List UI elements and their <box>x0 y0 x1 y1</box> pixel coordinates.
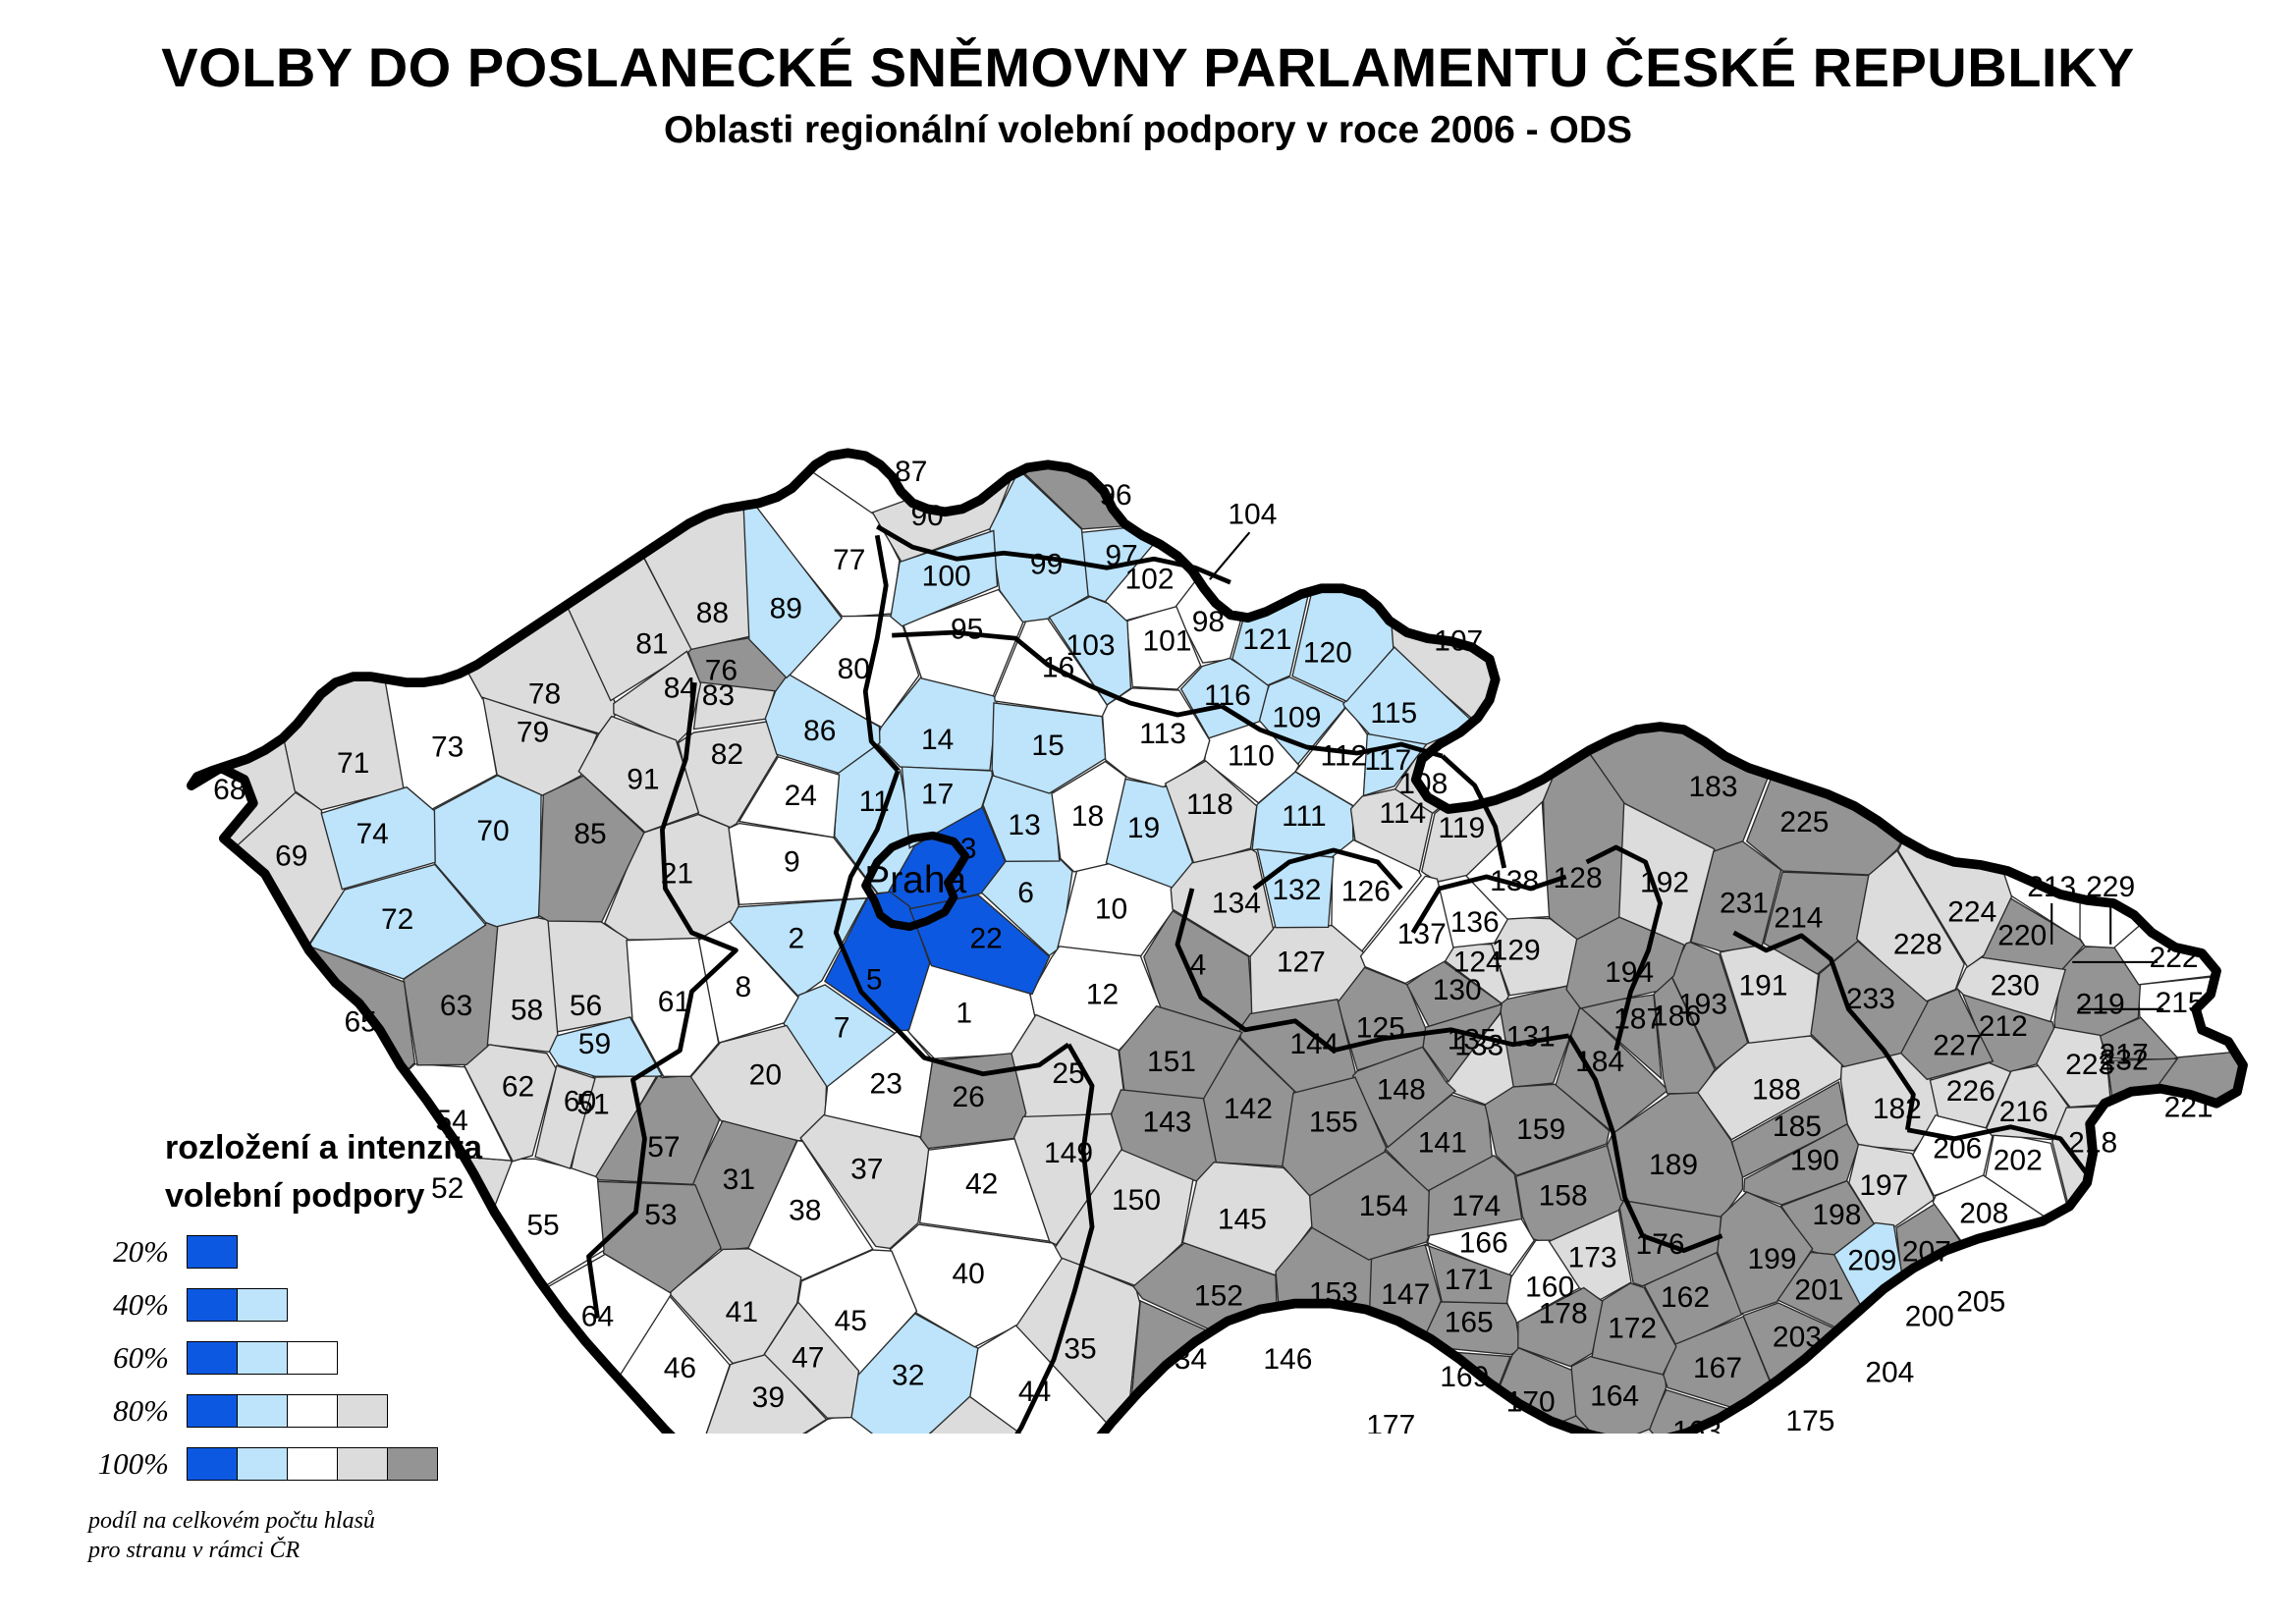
region-label: 144 <box>1289 1028 1339 1060</box>
region-label: 171 <box>1445 1264 1494 1296</box>
region-label: 21 <box>661 857 693 890</box>
region-label: 102 <box>1124 564 1174 596</box>
region-label: 100 <box>922 561 971 593</box>
legend-swatch <box>187 1235 238 1269</box>
region-label: 169 <box>1440 1361 1489 1393</box>
region-label: 15 <box>1031 730 1064 762</box>
region-label: 20 <box>749 1059 782 1092</box>
region-label: 110 <box>1228 739 1275 772</box>
region-label: 173 <box>1568 1242 1617 1274</box>
region-label: 59 <box>578 1028 611 1060</box>
region-label: 88 <box>696 597 729 629</box>
region-label: 136 <box>1450 906 1500 939</box>
region-label: 2 <box>788 922 804 954</box>
region-label: 197 <box>1859 1169 1908 1202</box>
region-label: 230 <box>1991 969 2040 1001</box>
region-label: 218 <box>2068 1127 2117 1160</box>
region-label: 1 <box>956 998 972 1030</box>
region-label: 202 <box>1994 1145 2043 1177</box>
legend-swatch <box>237 1288 288 1322</box>
region-label: 189 <box>1649 1149 1698 1181</box>
legend-heading-line1: rozložení a intenzita <box>165 1124 627 1172</box>
region-label: 205 <box>1956 1285 2005 1318</box>
region-label: 83 <box>702 679 735 712</box>
region-label: 185 <box>1773 1110 1822 1143</box>
region-label: 111 <box>1282 800 1327 833</box>
region-label: 99 <box>1030 549 1063 581</box>
legend-swatch <box>287 1341 338 1375</box>
region-label: 87 <box>895 456 927 488</box>
region-label: 149 <box>1044 1137 1093 1169</box>
region-label: 132 <box>1272 874 1321 906</box>
legend-row: 80% <box>77 1388 627 1434</box>
region-label: 91 <box>627 763 659 795</box>
map-region[interactable] <box>1576 372 1927 851</box>
region-label: 112 <box>1320 739 1367 772</box>
legend-row: 20% <box>77 1229 627 1274</box>
region-label: 77 <box>833 544 865 576</box>
region-label: 170 <box>1506 1385 1556 1418</box>
region-label: 117 <box>1364 744 1411 777</box>
region-label: 128 <box>1554 862 1603 894</box>
region-label: 23 <box>870 1068 902 1101</box>
legend-row: 100% <box>77 1441 627 1487</box>
region-label: 208 <box>1959 1198 2008 1230</box>
region-label: 10 <box>1095 893 1127 925</box>
region-label: 101 <box>1142 625 1191 658</box>
map-region[interactable] <box>1383 374 1782 734</box>
legend-swatch <box>337 1394 388 1428</box>
region-label: 24 <box>785 780 817 812</box>
region-label: 163 <box>1672 1415 1722 1434</box>
region-label: 41 <box>726 1296 758 1328</box>
region-label: 103 <box>1066 629 1116 662</box>
map-region[interactable] <box>692 372 1027 514</box>
region-label: 69 <box>275 839 307 872</box>
region-label: 204 <box>1865 1356 1914 1388</box>
legend-bar <box>187 1341 338 1375</box>
region-label: 19 <box>1127 812 1160 844</box>
region-label: 172 <box>1608 1312 1657 1344</box>
map-region[interactable] <box>2080 373 2296 947</box>
map-region[interactable] <box>86 792 345 1039</box>
capital-label: Praha <box>864 859 966 901</box>
region-label: 153 <box>1309 1277 1358 1310</box>
region-label: 192 <box>1640 866 1689 898</box>
region-label: 227 <box>1933 1030 1982 1062</box>
region-label: 166 <box>1459 1227 1508 1260</box>
region-label: 188 <box>1752 1074 1801 1107</box>
region-label: 183 <box>1689 771 1738 803</box>
region-label: 219 <box>2076 989 2125 1021</box>
region-label: 145 <box>1218 1204 1267 1236</box>
region-label: 72 <box>381 903 413 936</box>
region-label: 68 <box>213 774 246 806</box>
legend-swatch <box>187 1288 238 1322</box>
region-label: 126 <box>1341 875 1391 907</box>
region-label: 25 <box>1052 1057 1084 1090</box>
map-region[interactable] <box>487 918 558 1053</box>
region-label: 115 <box>1370 697 1417 730</box>
region-label: 85 <box>574 818 606 850</box>
region-label: 174 <box>1451 1190 1501 1222</box>
region-label: 229 <box>2086 871 2135 903</box>
region-label: 151 <box>1147 1046 1196 1078</box>
region-label: 34 <box>1175 1343 1207 1376</box>
region-label: 177 <box>1366 1409 1415 1434</box>
region-label: 138 <box>1490 865 1539 897</box>
legend-bar <box>187 1288 288 1322</box>
region-label: 164 <box>1590 1380 1639 1412</box>
map-region[interactable] <box>1747 374 2056 875</box>
map-region[interactable] <box>1948 1258 2295 1434</box>
region-label: 193 <box>1678 989 1727 1021</box>
region-label: 135 <box>1448 1024 1497 1056</box>
region-label: 143 <box>1142 1107 1191 1139</box>
region-label: 71 <box>337 747 369 780</box>
region-label: 147 <box>1381 1278 1430 1311</box>
legend-bar <box>187 1394 388 1428</box>
legend-swatch <box>187 1394 238 1428</box>
region-label: 46 <box>664 1352 696 1384</box>
region-label: 89 <box>770 593 802 625</box>
region-label: 159 <box>1516 1113 1565 1146</box>
region-label: 14 <box>921 724 954 756</box>
region-label: 207 <box>1902 1236 1951 1269</box>
region-label: 146 <box>1263 1343 1312 1376</box>
region-label: 125 <box>1356 1012 1405 1045</box>
region-label: 228 <box>1893 928 1942 960</box>
region-label: 162 <box>1661 1281 1710 1314</box>
region-label: 37 <box>850 1154 883 1186</box>
region-label: 109 <box>1272 702 1321 734</box>
region-label: 47 <box>792 1341 824 1374</box>
region-label: 206 <box>1933 1133 1982 1165</box>
region-label: 129 <box>1492 934 1541 966</box>
region-label: 127 <box>1277 946 1326 978</box>
region-label: 57 <box>647 1131 680 1164</box>
page-title: VOLBY DO POSLANECKÉ SNĚMOVNY PARLAMENTU … <box>0 39 2296 97</box>
region-label: 113 <box>1139 718 1186 750</box>
region-label: 130 <box>1433 974 1482 1006</box>
region-label: 39 <box>752 1381 785 1414</box>
region-label: 60 <box>564 1086 596 1118</box>
legend-swatch <box>187 1341 238 1375</box>
region-label: 5 <box>866 963 883 996</box>
region-label: 137 <box>1397 918 1447 950</box>
legend-swatch <box>337 1447 388 1481</box>
region-label: 176 <box>1636 1228 1685 1261</box>
region-label: 155 <box>1309 1107 1358 1139</box>
legend-swatch <box>187 1447 238 1481</box>
region-label: 225 <box>1779 806 1829 839</box>
region-label: 178 <box>1539 1297 1588 1329</box>
region-label: 152 <box>1194 1280 1243 1313</box>
region-label: 44 <box>1018 1376 1051 1408</box>
region-label: 7 <box>834 1012 850 1045</box>
region-label: 216 <box>1999 1096 2049 1128</box>
title-block: VOLBY DO POSLANECKÉ SNĚMOVNY PARLAMENTU … <box>0 39 2296 152</box>
region-label: 98 <box>1192 606 1225 638</box>
legend-swatch <box>237 1341 288 1375</box>
region-label: 38 <box>789 1195 821 1227</box>
legend-percent-label: 100% <box>77 1446 187 1482</box>
map-region[interactable] <box>1960 373 2083 942</box>
region-label: 119 <box>1438 812 1485 844</box>
region-label: 158 <box>1539 1180 1588 1213</box>
region-label: 81 <box>635 628 668 661</box>
region-label: 190 <box>1790 1145 1839 1177</box>
legend-bar <box>187 1235 238 1269</box>
region-label: 154 <box>1359 1190 1408 1222</box>
legend-heading: rozložení a intenzita volební podpory <box>165 1124 627 1221</box>
region-label: 118 <box>1186 788 1233 821</box>
map-region[interactable] <box>89 371 296 987</box>
region-label: 95 <box>951 614 983 646</box>
region-label: 62 <box>502 1071 534 1104</box>
region-label: 84 <box>664 673 696 705</box>
map-region[interactable] <box>206 374 408 810</box>
region-label: 120 <box>1303 637 1352 670</box>
region-label: 70 <box>476 815 509 847</box>
region-label: 233 <box>1846 983 1895 1015</box>
region-label: 226 <box>1946 1075 1995 1108</box>
legend-heading-line2: volební podpory <box>165 1172 627 1220</box>
region-label: 40 <box>952 1258 984 1290</box>
region-label: 26 <box>952 1081 984 1113</box>
region-label: 213 <box>2027 871 2076 903</box>
legend-percent-label: 60% <box>77 1340 187 1376</box>
region-label: 82 <box>711 738 743 771</box>
legend-note-line2: pro stranu v rámci ČR <box>88 1536 627 1565</box>
region-label: 194 <box>1605 956 1654 989</box>
region-label: 79 <box>517 716 549 748</box>
region-label: 214 <box>1774 901 1823 934</box>
legend-percent-label: 40% <box>77 1287 187 1323</box>
region-label: 73 <box>431 731 464 763</box>
region-label: 22 <box>969 922 1002 954</box>
region-label: 121 <box>1242 623 1291 656</box>
region-label: 8 <box>736 971 752 1003</box>
region-label: 215 <box>2156 987 2205 1019</box>
region-label: 231 <box>1720 887 1769 919</box>
region-label: 35 <box>1064 1332 1096 1365</box>
region-label: 58 <box>511 995 543 1027</box>
region-label: 4 <box>1190 948 1207 981</box>
region-label: 191 <box>1738 969 1787 1001</box>
legend-percent-label: 20% <box>77 1234 187 1270</box>
region-label: 18 <box>1071 800 1104 833</box>
region-label: 9 <box>784 845 800 878</box>
region-label: 74 <box>356 818 389 850</box>
region-label: 201 <box>1794 1274 1843 1307</box>
region-label: 199 <box>1747 1243 1796 1275</box>
region-label: 184 <box>1575 1046 1624 1078</box>
region-label: 107 <box>1434 625 1483 658</box>
region-label: 165 <box>1445 1306 1494 1338</box>
region-label: 232 <box>2100 1045 2149 1077</box>
region-label: 104 <box>1228 499 1277 531</box>
page-subtitle: Oblasti regionální volební podpory v roc… <box>0 109 2296 152</box>
map-region[interactable] <box>1183 373 1480 577</box>
region-label: 80 <box>838 653 870 685</box>
region-label: 12 <box>1086 978 1119 1010</box>
legend-note: podíl na celkovém počtu hlasů pro stranu… <box>88 1506 627 1565</box>
legend-bar <box>187 1447 438 1481</box>
legend-swatch <box>237 1394 288 1428</box>
region-label: 131 <box>1506 1021 1556 1054</box>
region-label: 13 <box>1008 809 1040 841</box>
region-label: 42 <box>965 1168 998 1201</box>
legend-row: 40% <box>77 1282 627 1327</box>
region-label: 134 <box>1212 887 1261 919</box>
legend: rozložení a intenzita volební podpory 20… <box>77 1124 627 1565</box>
region-label: 53 <box>644 1199 677 1231</box>
legend-note-line1: podíl na celkovém počtu hlasů <box>88 1506 627 1536</box>
region-label: 86 <box>803 715 836 747</box>
region-label: 90 <box>911 500 944 532</box>
legend-percent-label: 80% <box>77 1393 187 1429</box>
region-label: 17 <box>921 778 954 810</box>
region-label: 212 <box>1979 1010 2028 1043</box>
region-label: 175 <box>1785 1405 1834 1434</box>
legend-rows: 20%40%60%80%100% <box>77 1229 627 1487</box>
region-label: 114 <box>1379 797 1426 830</box>
region-label: 32 <box>892 1359 924 1391</box>
region-label: 224 <box>1947 895 1996 928</box>
region-label: 200 <box>1905 1300 1954 1332</box>
region-label: 11 <box>859 785 890 818</box>
region-label: 6 <box>1017 877 1034 909</box>
region-label: 56 <box>570 990 602 1022</box>
region-label: 116 <box>1204 679 1251 712</box>
region-label: 220 <box>1997 919 2047 951</box>
region-label: 182 <box>1873 1093 1922 1125</box>
legend-swatch <box>237 1447 288 1481</box>
region-label: 167 <box>1693 1352 1742 1384</box>
region-label: 148 <box>1377 1074 1426 1107</box>
region-label: 31 <box>723 1164 755 1196</box>
region-label: 141 <box>1418 1127 1467 1160</box>
region-label: 203 <box>1773 1321 1822 1353</box>
region-label: 65 <box>345 1006 377 1039</box>
legend-swatch <box>287 1447 338 1481</box>
region-label: 45 <box>835 1305 867 1337</box>
legend-swatch <box>387 1447 438 1481</box>
region-label: 96 <box>1099 479 1131 512</box>
map-region[interactable] <box>1220 1360 1468 1434</box>
region-label: 198 <box>1812 1199 1861 1231</box>
region-label: 222 <box>2150 942 2199 974</box>
region-label: 150 <box>1112 1184 1161 1217</box>
region-label: 142 <box>1224 1093 1273 1125</box>
legend-row: 60% <box>77 1335 627 1380</box>
region-label: 61 <box>658 986 690 1018</box>
region-label: 209 <box>1847 1245 1896 1277</box>
region-label: 63 <box>440 990 472 1022</box>
region-label: 221 <box>2164 1092 2214 1124</box>
legend-swatch <box>287 1394 338 1428</box>
region-label: 187 <box>1613 1003 1663 1036</box>
region-label: 78 <box>528 678 561 711</box>
